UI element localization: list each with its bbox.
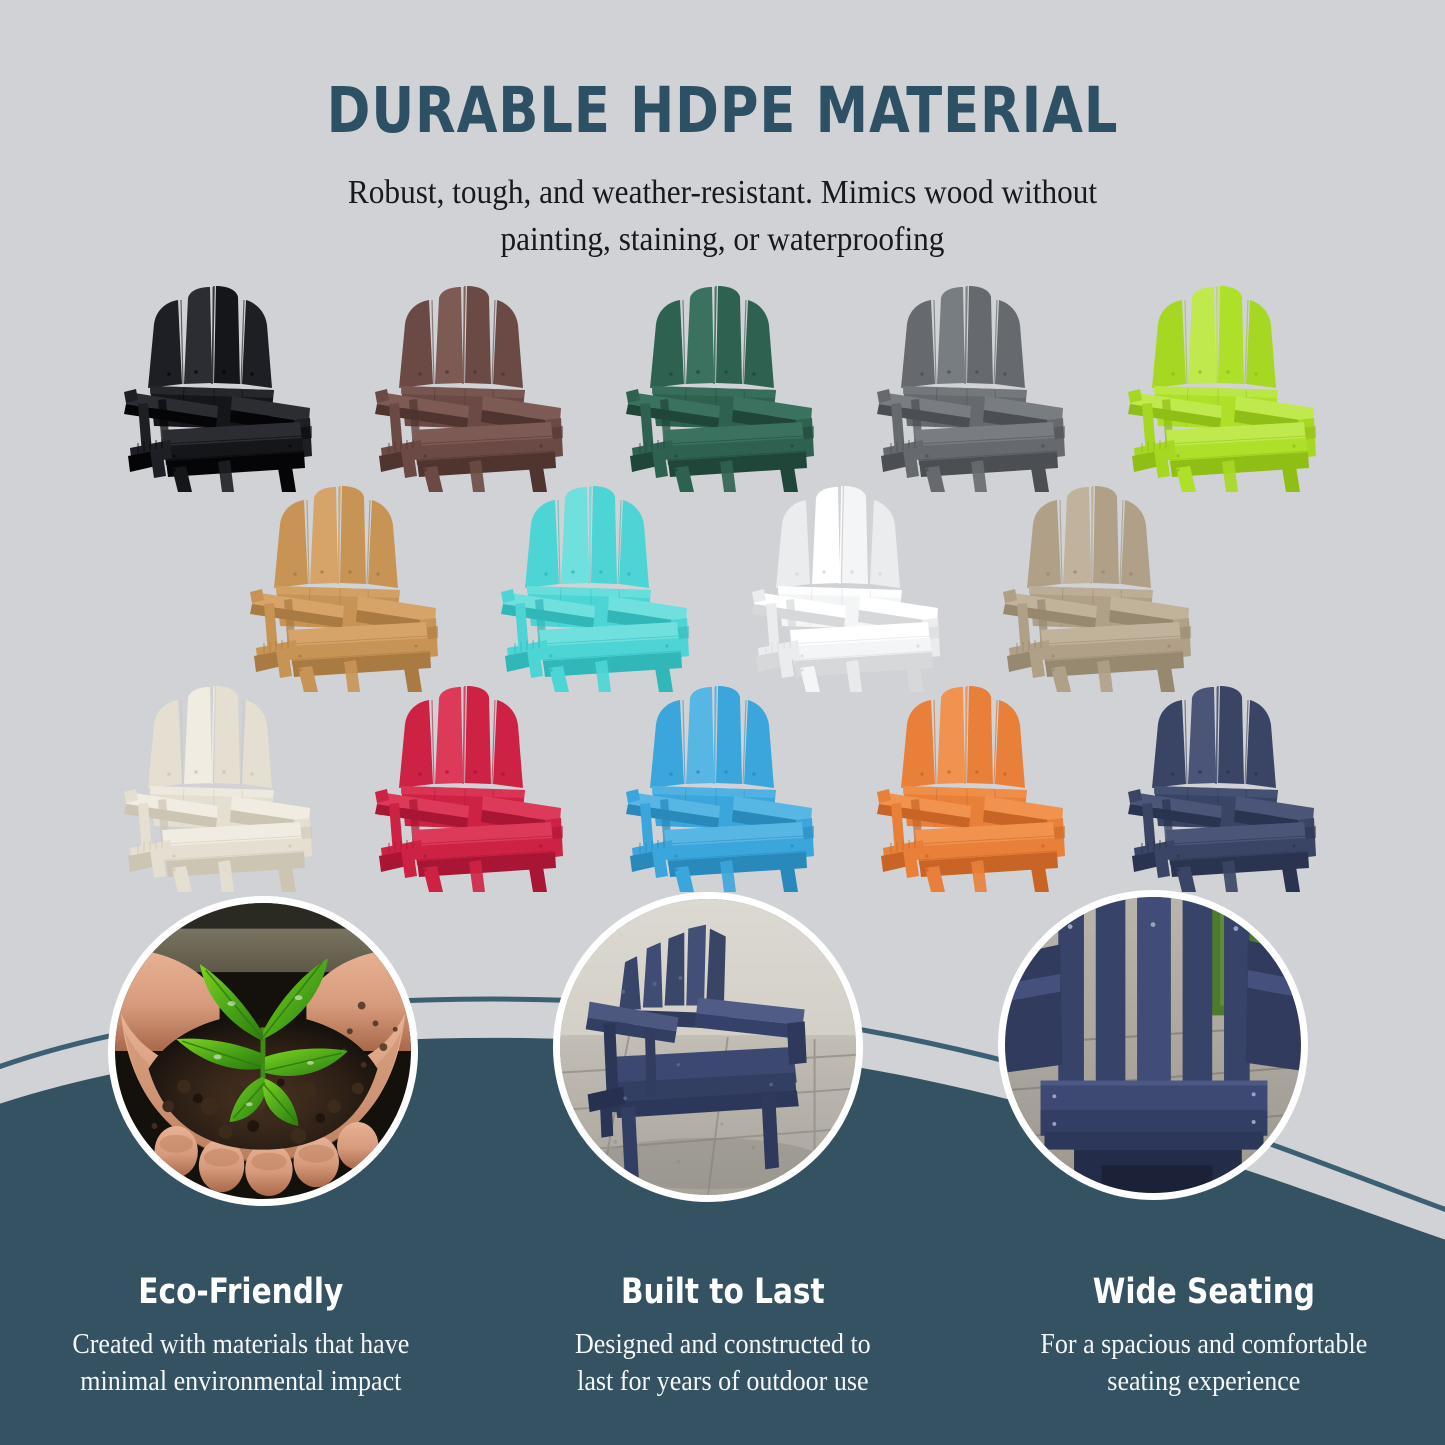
chair-swatch-teak-tan[interactable]	[240, 480, 453, 692]
feature-desc-line-1: Created with materials that have	[39, 1326, 442, 1364]
feature-description: Designed and constructed to last for yea…	[521, 1326, 924, 1401]
feature-eco-friendly: Eco-Friendly Created with materials that…	[0, 1272, 482, 1401]
patio-photo-inner	[560, 899, 856, 1195]
feature-wide-seating: Wide Seating For a spacious and comforta…	[963, 1272, 1445, 1401]
chair-swatch-crimson-red[interactable]	[365, 680, 578, 892]
seat-closeup-inner	[1005, 897, 1301, 1193]
chair-swatch-sky-blue[interactable]	[616, 680, 829, 892]
feature-title: Wide Seating	[1000, 1272, 1408, 1312]
eco-photo-inner	[115, 903, 411, 1199]
header: DURABLE HDPE MATERIAL Robust, tough, and…	[0, 0, 1445, 264]
chair-row-1	[0, 280, 1445, 492]
chair-swatch-lime-green[interactable]	[1118, 280, 1331, 492]
chair-swatch-turquoise[interactable]	[491, 480, 704, 692]
chair-swatch-ivory-beige[interactable]	[114, 680, 327, 892]
eco-hands-seedling-photo	[108, 896, 418, 1206]
feature-desc-line-2: last for years of outdoor use	[521, 1363, 924, 1401]
feature-built-to-last: Built to Last Designed and constructed t…	[482, 1272, 964, 1401]
feature-desc-line-2: seating experience	[1003, 1363, 1406, 1401]
chair-swatch-white[interactable]	[742, 480, 955, 692]
chair-swatch-forest-green[interactable]	[616, 280, 829, 492]
chair-swatch-navy-blue[interactable]	[1118, 680, 1331, 892]
feature-description: Created with materials that have minimal…	[39, 1326, 442, 1401]
navy-chair-seat-closeup-photo	[998, 890, 1308, 1200]
feature-list: Eco-Friendly Created with materials that…	[0, 1272, 1445, 1401]
navy-chair-patio-photo	[553, 892, 863, 1202]
page-subtitle: Robust, tough, and weather-resistant. Mi…	[58, 170, 1387, 264]
feature-image-bubbles	[0, 888, 1445, 1228]
chair-color-grid	[0, 280, 1445, 892]
chair-swatch-gray[interactable]	[867, 280, 1080, 492]
chair-swatch-orange[interactable]	[867, 680, 1080, 892]
chair-row-2	[0, 480, 1445, 692]
chair-row-3	[0, 680, 1445, 892]
feature-title: Built to Last	[519, 1272, 927, 1312]
feature-title: Eco-Friendly	[37, 1272, 445, 1312]
subtitle-line-2: painting, staining, or waterproofing	[58, 217, 1387, 264]
chair-swatch-dark-brown[interactable]	[365, 280, 578, 492]
feature-desc-line-2: minimal environmental impact	[39, 1363, 442, 1401]
page-title: DURABLE HDPE MATERIAL	[51, 78, 1395, 144]
feature-desc-line-1: Designed and constructed to	[521, 1326, 924, 1364]
chair-swatch-black[interactable]	[114, 280, 327, 492]
chair-swatch-weathered-taupe[interactable]	[993, 480, 1206, 692]
feature-desc-line-1: For a spacious and comfortable	[1003, 1326, 1406, 1364]
subtitle-line-1: Robust, tough, and weather-resistant. Mi…	[58, 170, 1387, 217]
feature-description: For a spacious and comfortable seating e…	[1003, 1326, 1406, 1401]
